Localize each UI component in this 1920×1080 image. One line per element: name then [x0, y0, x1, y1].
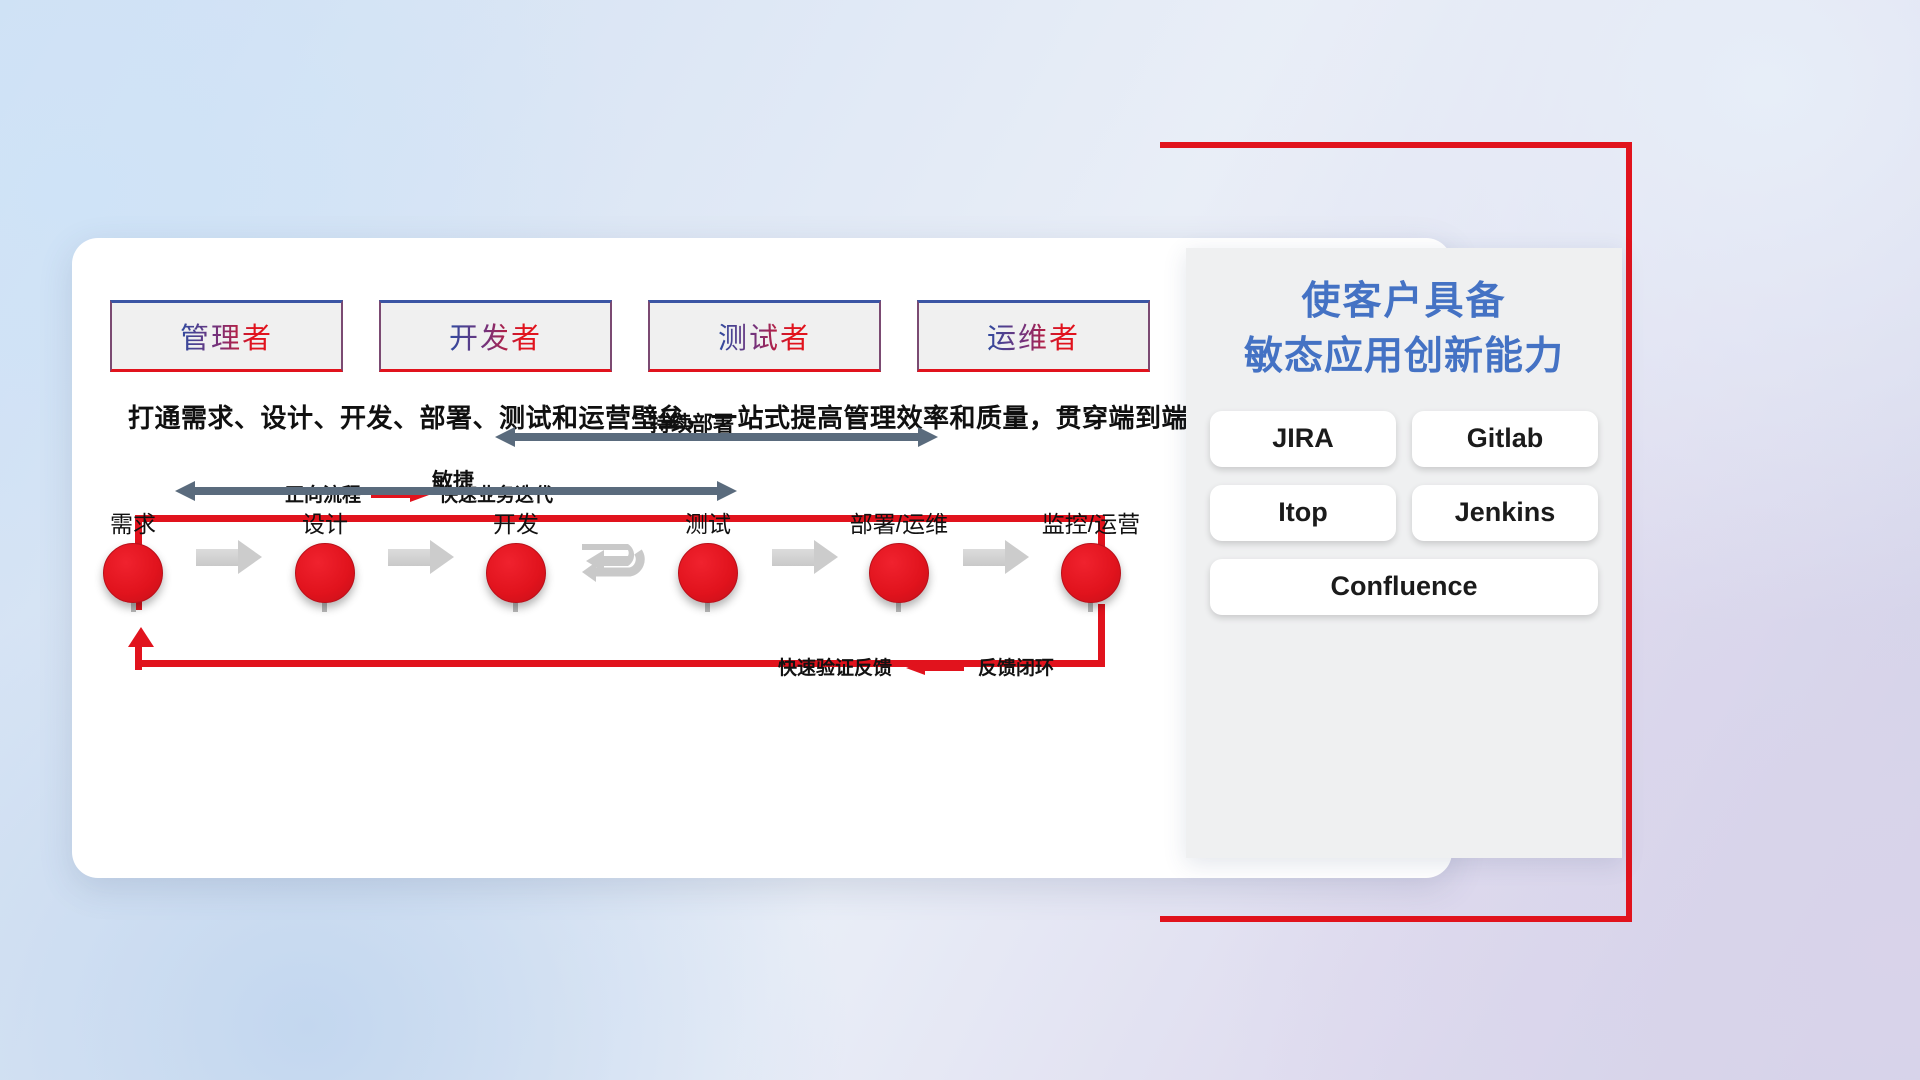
tool-chip-jenkins[interactable]: Jenkins — [1412, 485, 1598, 541]
stage-dot-icon — [486, 543, 546, 603]
connector-bracket-bottom — [1160, 916, 1632, 922]
flow-arrow-icon — [196, 540, 262, 574]
continuous-deploy-arrow — [495, 428, 938, 446]
tool-chip-list: JIRA Gitlab Itop Jenkins Confluence — [1196, 411, 1612, 615]
feedback-from-label: 快速验证反馈 — [778, 653, 892, 680]
role-label: 测试者 — [718, 315, 811, 357]
role-box-operations[interactable]: 运维者 — [917, 300, 1150, 372]
stage-node-monitor-operate[interactable]: 监控/运营 — [1031, 505, 1151, 603]
stage-dot-icon — [1061, 543, 1121, 603]
tool-chip-jira[interactable]: JIRA — [1210, 411, 1396, 467]
flow-arrow-icon — [388, 540, 454, 574]
stage-node-deploy-ops[interactable]: 部署/运维 — [839, 505, 959, 603]
feedback-to-label: 反馈闭环 — [978, 653, 1054, 680]
side-panel-title-line1: 使客户具备 — [1186, 274, 1622, 329]
stage-label: 部署/运维 — [839, 505, 959, 539]
stage-dot-icon — [869, 543, 929, 603]
flow-arrow-icon — [963, 540, 1029, 574]
tool-chip-itop[interactable]: Itop — [1210, 485, 1396, 541]
agile-arrow — [175, 482, 737, 500]
side-panel: 使客户具备 敏态应用创新能力 JIRA Gitlab Itop Jenkins … — [1186, 248, 1622, 858]
stage-dot-icon — [103, 543, 163, 603]
side-panel-title: 使客户具备 敏态应用创新能力 — [1186, 274, 1622, 385]
stage-dot-icon — [295, 543, 355, 603]
role-box-tester[interactable]: 测试者 — [648, 300, 881, 372]
tool-chip-confluence[interactable]: Confluence — [1210, 559, 1598, 615]
role-box-developer[interactable]: 开发者 — [379, 300, 612, 372]
stage-dot-icon — [678, 543, 738, 603]
stage-node-testing[interactable]: 测试 — [648, 505, 768, 603]
feedback-loop-up-arrow-icon — [128, 627, 154, 647]
role-label: 开发者 — [449, 315, 542, 357]
stage-label: 需求 — [73, 505, 193, 539]
role-box-manager[interactable]: 管理者 — [110, 300, 343, 372]
tool-chip-gitlab[interactable]: Gitlab — [1412, 411, 1598, 467]
feedback-loop-right-lower — [1098, 604, 1105, 667]
loop-back-arrow-icon — [578, 532, 662, 594]
stage-label: 测试 — [648, 505, 768, 539]
feedback-legend: 快速验证反馈 反馈闭环 — [778, 653, 1054, 680]
stage-node-design[interactable]: 设计 — [265, 505, 385, 603]
stage-label: 开发 — [456, 505, 576, 539]
stage-label: 设计 — [265, 505, 385, 539]
stage-node-development[interactable]: 开发 — [456, 505, 576, 603]
side-panel-title-line2: 敏态应用创新能力 — [1186, 329, 1622, 384]
left-arrow-icon — [906, 661, 964, 673]
role-label: 管理者 — [180, 315, 273, 357]
role-label: 运维者 — [987, 315, 1080, 357]
connector-bracket-right — [1626, 142, 1632, 922]
stage-node-requirements[interactable]: 需求 — [73, 505, 193, 603]
connector-bracket-top — [1160, 142, 1632, 148]
flow-arrow-icon — [772, 540, 838, 574]
stage-label: 监控/运营 — [1031, 505, 1151, 539]
